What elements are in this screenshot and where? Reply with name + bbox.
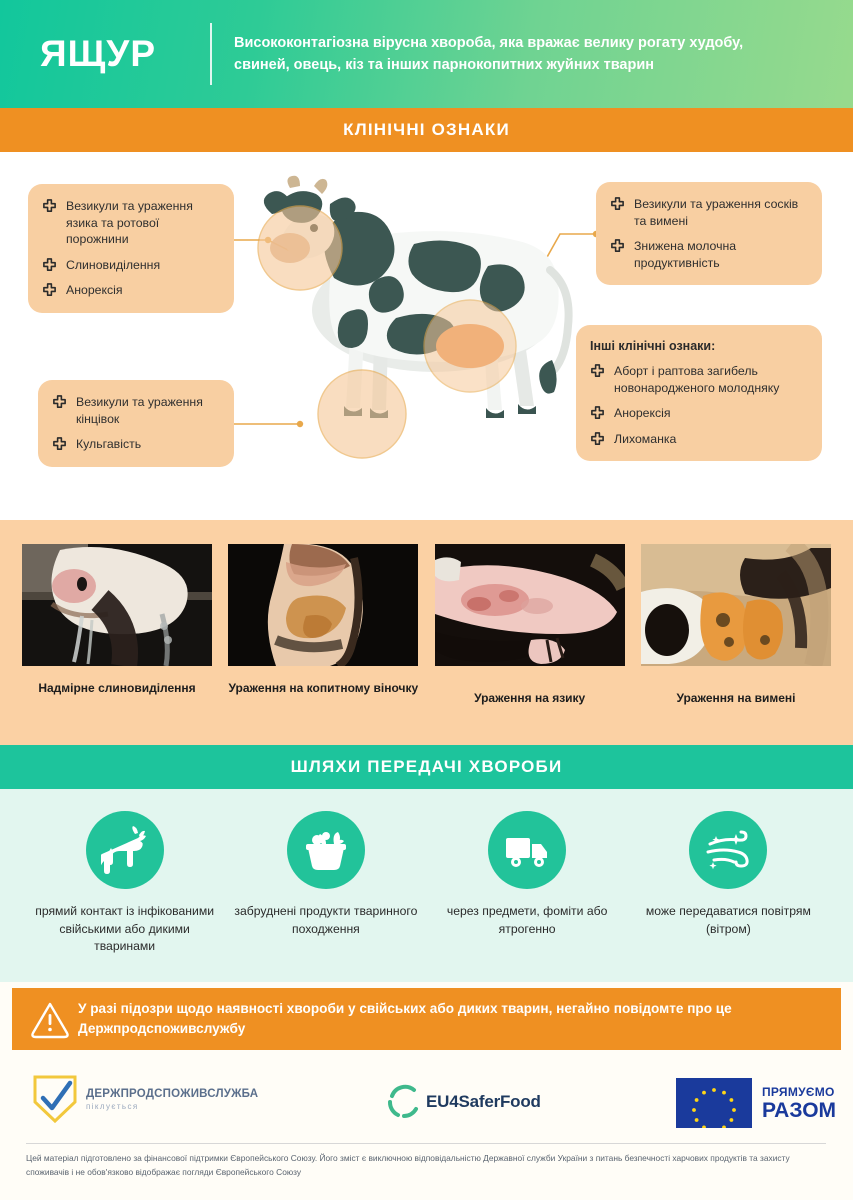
header-divider: [210, 23, 212, 85]
wind-icon-circle: [689, 811, 767, 889]
photo-caption: Надмірне слиновиділення: [22, 680, 212, 696]
list-item: Знижена молочна продуктивність: [610, 238, 806, 271]
list-item-label: Лихоманка: [614, 431, 676, 448]
dpss-logo-title: ДЕРЖПРОДСПОЖИВСЛУЖБА: [86, 1088, 258, 1100]
dpss-logo: ДЕРЖПРОДСПОЖИВСЛУЖБА піклується: [32, 1074, 258, 1124]
photo-cell: Надмірне слиновиділення: [22, 544, 212, 706]
eu-flag-logo: ПРЯМУЄМО РАЗОМ: [676, 1078, 836, 1128]
warning-text: У разі підозри щодо наявності хвороби у …: [78, 999, 841, 1040]
cross-icon: [52, 395, 67, 410]
callout-other-title: Інші клінічні ознаки:: [590, 339, 806, 353]
header-subtitle: Висококонтагіозна вірусна хвороба, яка в…: [234, 32, 794, 77]
transmission-item: може передаватися повітрям (вітром): [633, 811, 823, 956]
photo-caption: Ураження на вимені: [641, 690, 831, 706]
transmission-item: прямий контакт із інфікованими свійським…: [30, 811, 220, 956]
udder-lesion-photo: [641, 544, 831, 666]
list-item: Кульгавість: [52, 436, 218, 453]
list-item: Везикули та ураження сосків та вимені: [610, 196, 806, 229]
dpss-logo-subtitle: піклується: [86, 1102, 258, 1111]
eu-flag-line1: ПРЯМУЄМО: [762, 1085, 836, 1099]
cross-icon: [590, 364, 605, 379]
photo-cell: Ураження на язику: [435, 544, 625, 706]
list-item: Аборт і раптова загибель новонародженого…: [590, 363, 806, 396]
photo-caption: Ураження на копитному віночку: [228, 680, 418, 696]
disclaimer-text: Цей матеріал підготовлено за фінансової …: [26, 1152, 826, 1180]
infographic-page: ЯЩУР Висококонтагіозна вірусна хвороба, …: [0, 0, 853, 1200]
goat-icon-circle: [86, 811, 164, 889]
eu4saferfood-logo: EU4SaferFood: [384, 1082, 541, 1122]
shield-check-icon: [32, 1074, 78, 1124]
photo-cell: Ураження на вимені: [641, 544, 831, 706]
transmission-label: через предмети, фоміти або ятрогенно: [432, 903, 622, 938]
clinical-photo-strip: Надмірне слиновиділення Ураження: [0, 520, 853, 745]
truck-icon-circle: [488, 811, 566, 889]
list-item: Везикули та ураження кінцівок: [52, 394, 218, 427]
alert-triangle-icon: [30, 1000, 70, 1040]
cross-icon: [42, 199, 57, 214]
eu-flag-line2: РАЗОМ: [762, 1100, 836, 1121]
transmission-bar-label: ШЛЯХИ ПЕРЕДАЧІ ХВОРОБИ: [291, 757, 563, 777]
list-item-label: Везикули та ураження кінцівок: [76, 394, 218, 427]
transmission-bar: ШЛЯХИ ПЕРЕДАЧІ ХВОРОБИ: [0, 745, 853, 789]
list-item-label: Везикули та ураження язика та ротової по…: [66, 198, 218, 248]
cross-icon: [590, 432, 605, 447]
basket-icon: [302, 826, 350, 874]
callout-other-signs: Інші клінічні ознаки: Аборт і раптова за…: [576, 325, 822, 461]
eu4saferfood-arc-icon: [384, 1082, 424, 1122]
transmission-label: може передаватися повітрям (вітром): [633, 903, 823, 938]
cross-icon: [590, 406, 605, 421]
wind-icon: [704, 826, 752, 874]
photo-cell: Ураження на копитному віночку: [228, 544, 418, 706]
transmission-routes-area: прямий контакт із інфікованими свійським…: [0, 789, 853, 982]
list-item-label: Знижена молочна продуктивність: [634, 238, 806, 271]
callout-udder-lesions: Везикули та ураження сосків та вимені Зн…: [596, 182, 822, 285]
basket-icon-circle: [287, 811, 365, 889]
list-item: Лихоманка: [590, 431, 806, 448]
eu4saferfood-label: EU4SaferFood: [426, 1092, 541, 1112]
callout-limb-lesions: Везикули та ураження кінцівок Кульгавіст…: [38, 380, 234, 467]
goat-icon: [101, 826, 149, 874]
list-item-label: Везикули та ураження сосків та вимені: [634, 196, 806, 229]
cross-icon: [42, 283, 57, 298]
cross-icon: [52, 437, 67, 452]
disclaimer-divider: [26, 1143, 826, 1144]
eu-flag-icon: [676, 1078, 752, 1128]
header-banner: ЯЩУР Висококонтагіозна вірусна хвороба, …: [0, 0, 853, 108]
warning-banner: У разі підозри щодо наявності хвороби у …: [12, 988, 841, 1050]
list-item: Анорексія: [590, 405, 806, 422]
clinical-signs-bar: КЛІНІЧНІ ОЗНАКИ: [0, 108, 853, 152]
transmission-label: забруднені продукти тваринного походженн…: [231, 903, 421, 938]
cross-icon: [610, 239, 625, 254]
hoof-lesion-photo: [228, 544, 418, 666]
truck-icon: [503, 826, 551, 874]
cow-illustration: [238, 170, 598, 470]
clinical-signs-area: Везикули та ураження язика та ротової по…: [0, 152, 853, 520]
transmission-item: через предмети, фоміти або ятрогенно: [432, 811, 622, 956]
list-item: Слиновиділення: [42, 257, 218, 274]
list-item-label: Аборт і раптова загибель новонародженого…: [614, 363, 806, 396]
clinical-signs-bar-label: КЛІНІЧНІ ОЗНАКИ: [343, 120, 510, 140]
callout-mouth-lesions: Везикули та ураження язика та ротової по…: [28, 184, 234, 313]
list-item-label: Слиновиділення: [66, 257, 160, 274]
cross-icon: [42, 258, 57, 273]
transmission-item: забруднені продукти тваринного походженн…: [231, 811, 421, 956]
transmission-label: прямий контакт із інфікованими свійським…: [30, 903, 220, 956]
footer-logos: ДЕРЖПРОДСПОЖИВСЛУЖБА піклується EU4Safer…: [0, 1062, 853, 1140]
list-item: Везикули та ураження язика та ротової по…: [42, 198, 218, 248]
page-title: ЯЩУР: [40, 33, 210, 75]
cross-icon: [610, 197, 625, 212]
list-item: Анорексія: [42, 282, 218, 299]
muzzle-salivation-photo: [22, 544, 212, 666]
tongue-lesion-photo: [435, 544, 625, 666]
list-item-label: Кульгавість: [76, 436, 141, 453]
list-item-label: Анорексія: [614, 405, 671, 422]
list-item-label: Анорексія: [66, 282, 123, 299]
photo-caption: Ураження на язику: [435, 690, 625, 706]
